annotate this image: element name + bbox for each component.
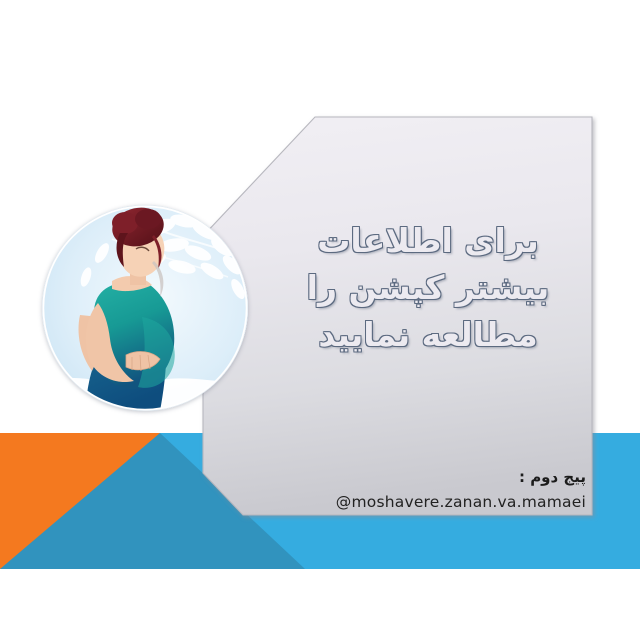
slide-canvas: برای اطلاعات بیشتر کپشن را مطالعه نمایید…: [0, 0, 640, 640]
footer-label: پیج دوم :: [336, 466, 586, 489]
headline-text: برای اطلاعات بیشتر کپشن را مطالعه نمایید: [268, 218, 588, 359]
footer-block: پیج دوم : @moshavere.zanan.va.mamaei: [336, 466, 586, 514]
headline-line-1: برای اطلاعات: [268, 218, 588, 265]
headline-line-2: بیشتر کپشن را: [268, 265, 588, 312]
headline-line-3: مطالعه نمایید: [268, 312, 588, 359]
instagram-handle: @moshavere.zanan.va.mamaei: [336, 491, 586, 514]
avatar: [42, 205, 248, 411]
